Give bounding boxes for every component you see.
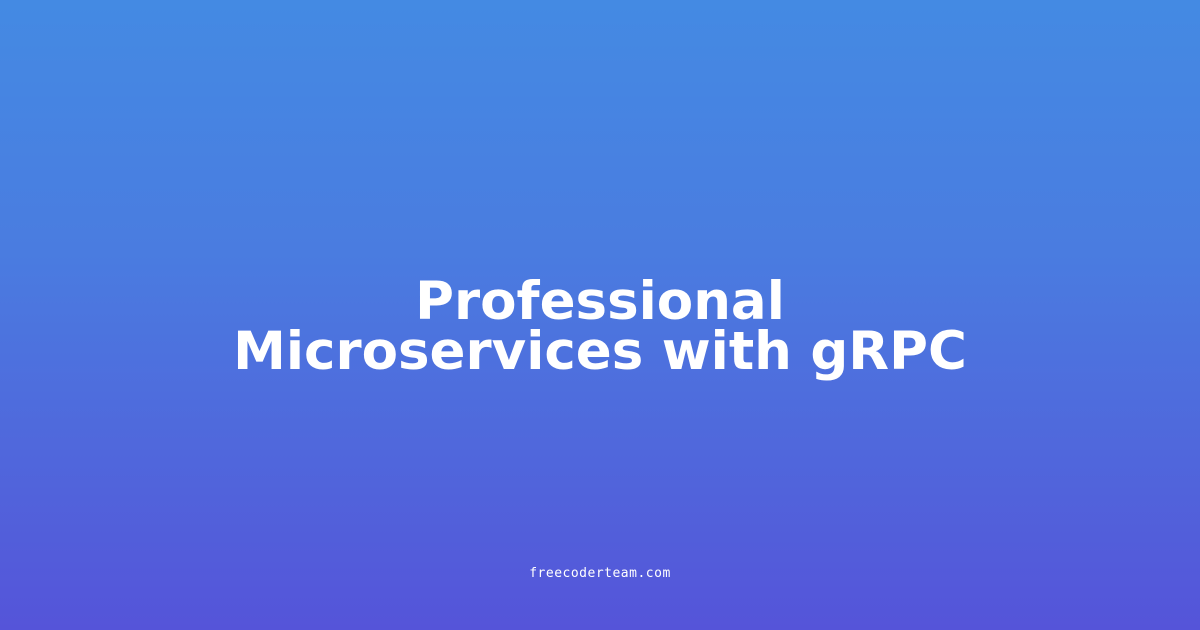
page-title: Professional Microservices with gRPC xyxy=(205,277,995,377)
title-block: Professional Microservices with gRPC xyxy=(205,277,995,377)
site-watermark: freecoderteam.com xyxy=(0,566,1200,582)
social-share-card: Professional Microservices with gRPC fre… xyxy=(0,0,1200,630)
